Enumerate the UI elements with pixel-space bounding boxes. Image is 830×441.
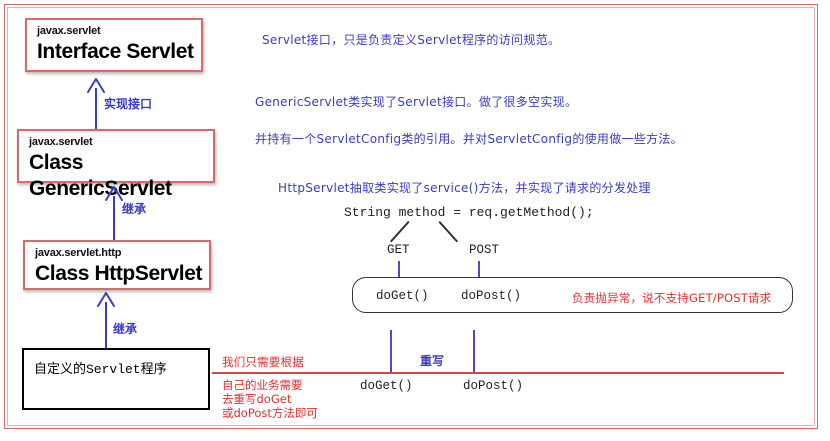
note-throw-exception: 负责抛异常，说不支持GET/POST请求 xyxy=(572,290,771,306)
branch-line-get xyxy=(390,221,409,242)
connector-extends-2-arrowhead xyxy=(96,292,116,308)
branch-line-post xyxy=(439,221,458,242)
note-bottom-line-1: 自己的业务需要 xyxy=(222,378,318,392)
label-override: 重写 xyxy=(420,352,444,369)
branch-label-get: GET xyxy=(387,243,410,257)
connector-implements-line xyxy=(95,88,97,134)
custom-servlet-label: 自定义的Servlet程序 xyxy=(34,358,208,377)
diagram-canvas: javax.servlet Interface Servlet 实现接口 jav… xyxy=(0,0,830,441)
note-http-servlet: HttpServlet抽取类实现了service()方法，并实现了请求的分发处理 xyxy=(278,179,651,196)
bottom-method-do-post: doPost() xyxy=(463,379,523,393)
note-bottom-line-2: 去重写doGet xyxy=(222,392,318,406)
method-box-do-get: doGet() xyxy=(376,289,429,303)
class-box-name: Class HttpServlet xyxy=(35,261,209,287)
label-extends-1: 继承 xyxy=(122,200,146,217)
connector-extends-1-arrowhead xyxy=(104,186,124,202)
custom-servlet-box[interactable]: 自定义的Servlet程序 xyxy=(22,348,210,410)
note-generic-servlet-1: GenericServlet类实现了Servlet接口。做了很多空实现。 xyxy=(255,93,577,110)
class-box-generic-servlet[interactable]: javax.servlet Class GenericServlet xyxy=(17,129,215,183)
note-servlet-interface: Servlet接口，只是负责定义Servlet程序的访问规范。 xyxy=(262,31,560,48)
override-line-get xyxy=(390,330,392,374)
override-line-post xyxy=(473,330,475,374)
method-box-do-post: doPost() xyxy=(461,289,521,303)
code-get-method: String method = req.getMethod(); xyxy=(344,205,594,220)
class-box-name: Interface Servlet xyxy=(37,39,201,65)
class-box-interface-servlet[interactable]: javax.servlet Interface Servlet xyxy=(25,18,203,72)
bottom-method-do-get: doGet() xyxy=(360,379,413,393)
note-bottom-below-rule: 自己的业务需要 去重写doGet 或doPost方法即可 xyxy=(222,378,318,420)
connector-implements-arrowhead xyxy=(86,78,106,94)
note-generic-servlet-2: 并持有一个ServletConfig类的引用。并对ServletConfig的使… xyxy=(255,130,683,147)
label-extends-2: 继承 xyxy=(113,320,137,337)
red-separator-rule xyxy=(212,372,784,374)
label-implements: 实现接口 xyxy=(104,95,152,112)
class-box-http-servlet[interactable]: javax.servlet.http Class HttpServlet xyxy=(23,240,211,290)
connector-extends-1-line xyxy=(113,196,115,241)
note-bottom-above-rule: 我们只需要根据 xyxy=(222,354,304,370)
note-bottom-line-3: 或doPost方法即可 xyxy=(222,406,318,420)
class-box-package: javax.servlet xyxy=(37,25,201,38)
class-box-package: javax.servlet xyxy=(29,136,213,149)
branch-label-post: POST xyxy=(469,243,499,257)
class-box-package: javax.servlet.http xyxy=(35,247,209,260)
